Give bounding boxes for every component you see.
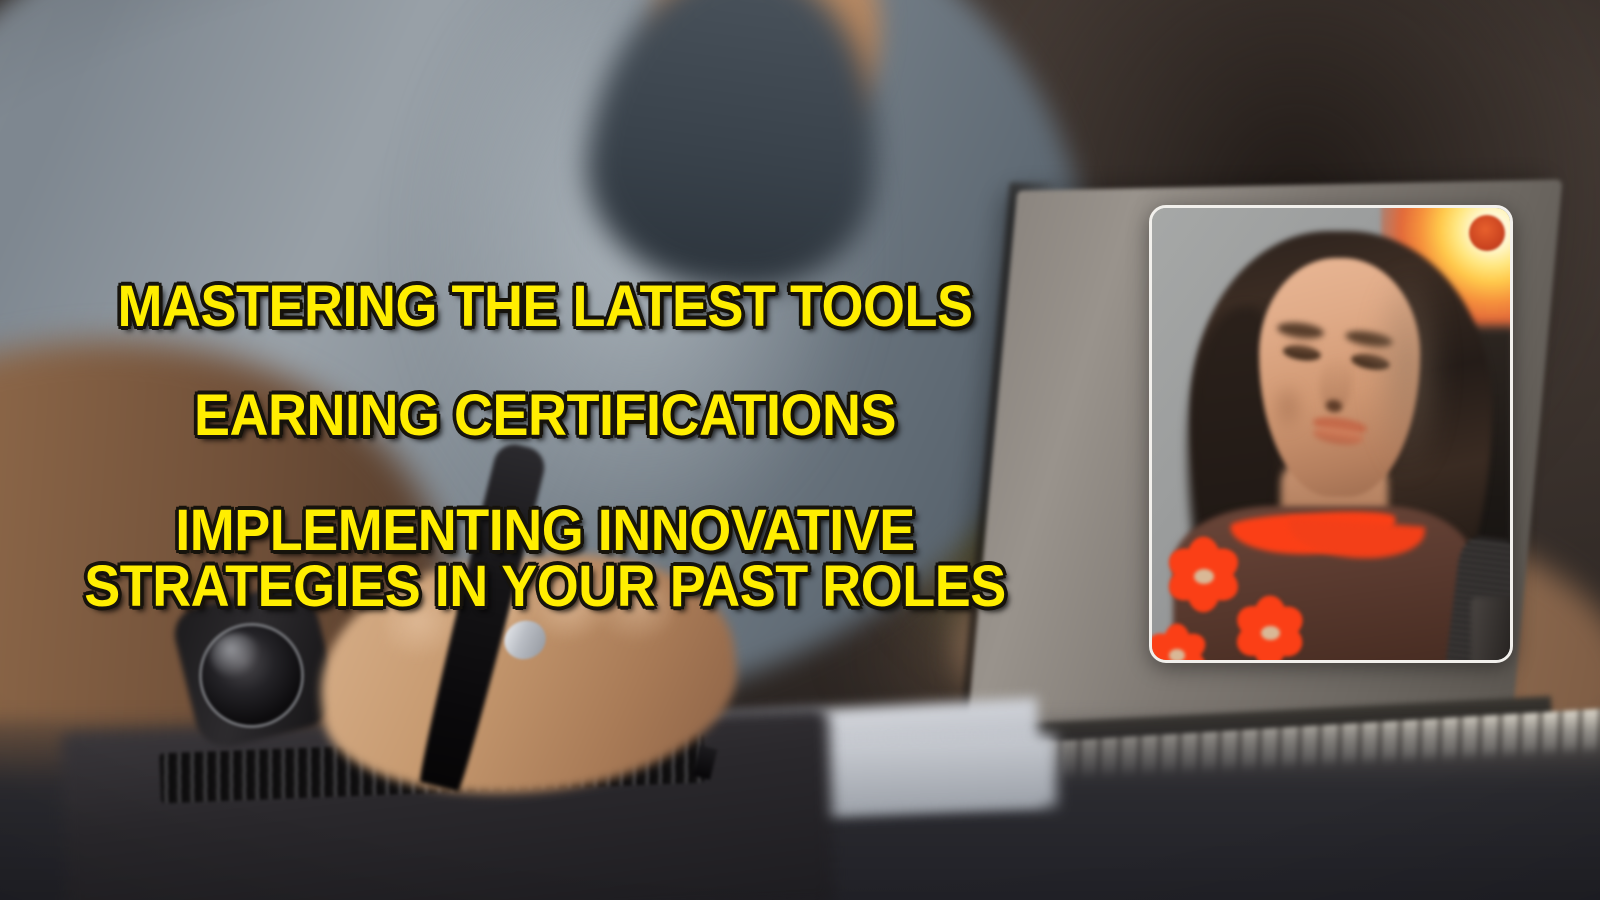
flower-print-2 <box>1231 597 1310 660</box>
microphone-body <box>1471 597 1510 660</box>
caption-line-2: EARNING CERTIFICATIONS <box>38 387 1052 445</box>
watch-glass-glare <box>210 633 261 678</box>
caption-line-4: STRATEGIES IN YOUR PAST ROLES <box>38 558 1052 616</box>
lamp-core <box>1469 215 1505 251</box>
caption-line-3: IMPLEMENTING INNOVATIVE <box>38 502 1052 560</box>
video-frame: MASTERING THE LATEST TOOLS EARNING CERTI… <box>0 0 1600 900</box>
webcam-feed <box>1152 208 1510 660</box>
caption-line-1: MASTERING THE LATEST TOOLS <box>38 278 1052 336</box>
flower-print-3 <box>1152 624 1209 660</box>
speaker-webcam-overlay[interactable] <box>1149 205 1513 663</box>
cheek-shadow <box>1263 371 1313 443</box>
